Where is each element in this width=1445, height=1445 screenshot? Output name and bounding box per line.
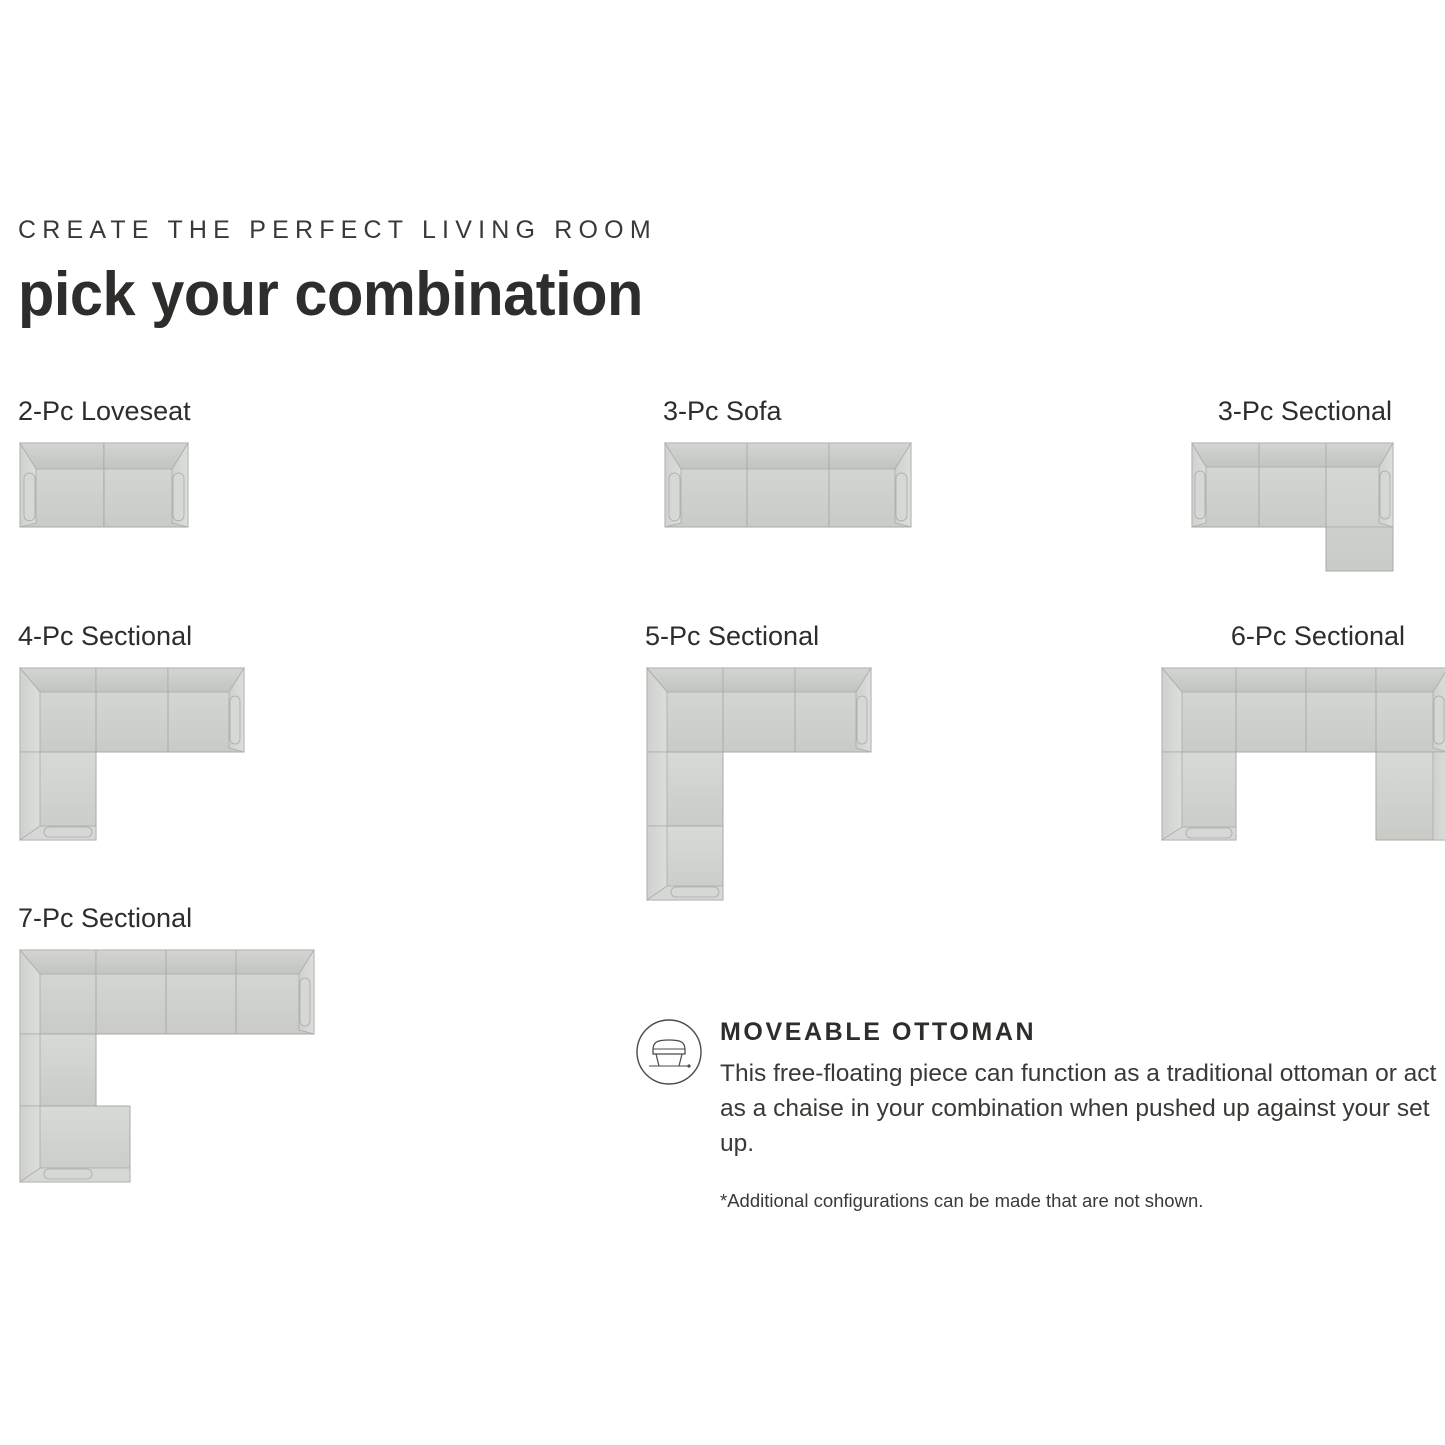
sofa-top-view-icon [18, 439, 208, 544]
sofa-top-view-icon [663, 439, 913, 544]
page-title: pick your combination [18, 259, 643, 330]
ottoman-description: This free-floating piece can function as… [720, 1057, 1445, 1161]
sectional-top-view-icon [1190, 439, 1392, 584]
footnote-text: *Additional configurations can be made t… [720, 1190, 1203, 1212]
combination-card-2-pc-loveseat[interactable]: 2-Pc Loveseat [18, 398, 208, 544]
sectional-top-view-icon [18, 946, 318, 1191]
combination-card-3-pc-sofa[interactable]: 3-Pc Sofa [663, 398, 913, 544]
sectional-top-view-icon [645, 664, 873, 909]
sectional-top-view-icon [1160, 664, 1405, 859]
combination-card-6-pc-sectional[interactable]: 6-Pc Sectional [1160, 623, 1405, 859]
combination-label: 6-Pc Sectional [1160, 623, 1405, 650]
combination-label: 3-Pc Sofa [663, 398, 913, 425]
combination-label: 3-Pc Sectional [1190, 398, 1392, 425]
ottoman-text-block: MOVEABLE OTTOMAN This free-floating piec… [720, 1018, 1445, 1161]
combination-label: 5-Pc Sectional [645, 623, 873, 650]
combination-card-5-pc-sectional[interactable]: 5-Pc Sectional [645, 623, 873, 909]
ottoman-title: MOVEABLE OTTOMAN [720, 1018, 1445, 1047]
combination-label: 2-Pc Loveseat [18, 398, 208, 425]
moveable-ottoman-callout: MOVEABLE OTTOMAN This free-floating piec… [635, 1012, 1445, 1161]
combination-card-3-pc-sectional[interactable]: 3-Pc Sectional [1190, 398, 1392, 584]
sectional-top-view-icon [18, 664, 246, 849]
combination-card-4-pc-sectional[interactable]: 4-Pc Sectional [18, 623, 246, 849]
combination-label: 7-Pc Sectional [18, 905, 318, 932]
ottoman-circle-icon [635, 1018, 703, 1086]
combination-card-7-pc-sectional[interactable]: 7-Pc Sectional [18, 905, 318, 1191]
combination-label: 4-Pc Sectional [18, 623, 246, 650]
header: CREATE THE PERFECT LIVING ROOM pick your… [18, 216, 669, 330]
eyebrow-text: CREATE THE PERFECT LIVING ROOM [18, 216, 669, 245]
